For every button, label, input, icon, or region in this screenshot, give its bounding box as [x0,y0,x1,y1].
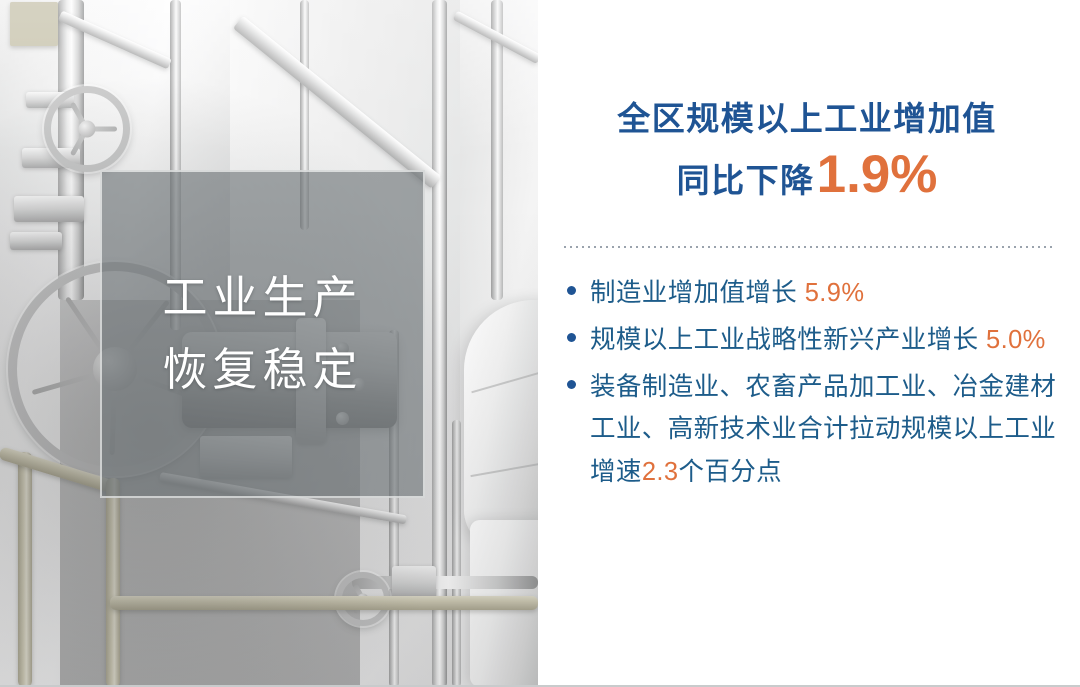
bullet-text-before: 制造业增加值增长 [590,279,805,307]
headline-line-1: 全区规模以上工业增加值 [556,98,1058,141]
valve-body-top [14,196,84,222]
duct-curved-large [464,300,538,550]
yellow-pipe-horizontal [110,596,538,610]
photo-caption-line-2: 恢复稳定 [162,338,362,402]
photo-caption-panel: 工业生产 恢复稳定 [100,170,425,498]
bullet-text: 制造业增加值增长 5.9% [590,279,864,307]
content-panel: 全区规模以上工业增加值 同比下降 1.9% 制造业增加值增长 5.9% 规模以上… [538,0,1080,687]
bullet-text: 装备制造业、农畜产品加工业、冶金建材工业、高新技术业合计拉动规模以上工业增速2.… [590,373,1056,487]
slide-root: 工业生产 恢复稳定 全区规模以上工业增加值 同比下降 1.9% 制造业增加值增长… [0,0,1080,687]
headline-line-2: 同比下降 1.9% [556,147,1058,203]
valve-flange-lower [10,232,62,250]
bullet-value: 5.9% [805,279,865,307]
bullet-dot-icon [567,286,576,295]
yellow-panel-corner [10,2,58,46]
bullet-text-before: 规模以上工业战略性新兴产业增长 [590,326,986,354]
bullet-value: 2.3 [642,458,679,486]
bullet-dot-icon [567,333,576,342]
headline-change-value: 1.9% [817,147,938,203]
list-item: 规模以上工业战略性新兴产业增长 5.0% [564,319,1060,362]
yellow-railing-post-b [106,478,120,687]
industrial-facility-photo: 工业生产 恢复稳定 [0,0,538,687]
headline-change-label: 同比下降 [677,164,815,199]
photo-caption-line-1: 工业生产 [162,266,362,330]
bullet-value: 5.0% [986,326,1046,354]
bullet-dot-icon [567,380,576,389]
list-item: 装备制造业、农畜产品加工业、冶金建材工业、高新技术业合计拉动规模以上工业增速2.… [564,366,1060,494]
valve-handwheel-small [44,86,130,172]
headline-block: 全区规模以上工业增加值 同比下降 1.9% [556,98,1058,203]
pipe-vertical-lower-b [452,420,461,687]
section-divider [564,246,1054,248]
list-item: 制造业增加值增长 5.9% [564,272,1060,315]
valve-body-bottom [392,566,436,600]
bullet-list: 制造业增加值增长 5.9% 规模以上工业战略性新兴产业增长 5.0% 装备制造业… [564,272,1060,498]
bullet-text: 规模以上工业战略性新兴产业增长 5.0% [590,326,1046,354]
bullet-text-after: 个百分点 [678,458,782,486]
yellow-railing-post [18,452,32,687]
